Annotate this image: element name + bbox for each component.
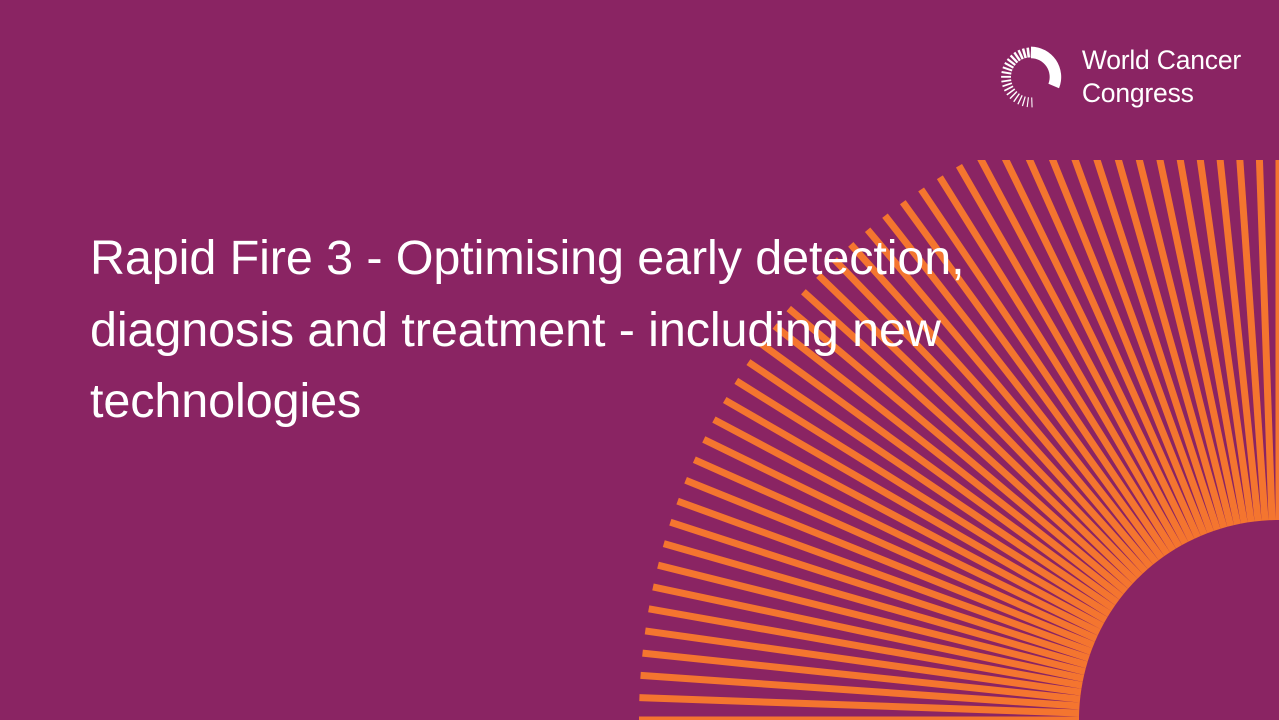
logo-solid-arc bbox=[1031, 47, 1061, 89]
fan-ray bbox=[1146, 160, 1237, 524]
fan-ray bbox=[1234, 160, 1265, 520]
fan-ray bbox=[1257, 160, 1272, 520]
fan-ray bbox=[649, 609, 1082, 685]
fan-ray bbox=[694, 460, 1096, 639]
fan-ray bbox=[643, 653, 1081, 699]
fan-ray bbox=[645, 631, 1081, 692]
fan-ray bbox=[714, 420, 1102, 627]
fan-ray bbox=[1103, 160, 1224, 528]
logo-dash bbox=[1022, 97, 1025, 106]
slide-title: Rapid Fire 3 - Optimising early detectio… bbox=[90, 223, 1120, 438]
fan-ray bbox=[686, 480, 1094, 645]
logo-dash bbox=[1002, 83, 1011, 86]
fan-ray bbox=[678, 501, 1091, 651]
world-cancer-congress-logo: World Cancer Congress bbox=[998, 44, 1241, 110]
logo-dash bbox=[1004, 86, 1013, 91]
logo-dash bbox=[1018, 95, 1022, 104]
logo-wordmark-line-2: Congress bbox=[1082, 77, 1241, 110]
logo-wordmark: World Cancer Congress bbox=[1082, 44, 1241, 110]
logo-dash bbox=[1001, 80, 1011, 82]
fan-ray bbox=[704, 439, 1099, 632]
fan-ray bbox=[664, 544, 1087, 665]
logo-dash bbox=[1028, 48, 1029, 58]
world-cancer-congress-radial-mark bbox=[998, 44, 1064, 110]
fan-ray bbox=[1190, 160, 1251, 522]
logo-dash bbox=[1027, 97, 1028, 107]
fan-ray bbox=[658, 565, 1085, 671]
logo-dash bbox=[1001, 72, 1011, 74]
logo-dash bbox=[1023, 49, 1026, 59]
logo-wordmark-line-1: World Cancer bbox=[1082, 44, 1241, 77]
fan-ray bbox=[639, 698, 1079, 713]
fan-ray bbox=[670, 522, 1088, 658]
fan-ray bbox=[641, 675, 1080, 706]
fan-ray bbox=[1212, 160, 1258, 521]
fan-ray bbox=[1124, 160, 1230, 526]
logo-dash bbox=[1003, 67, 1012, 70]
fan-ray bbox=[653, 587, 1083, 678]
fan-ray bbox=[1168, 160, 1244, 523]
slide-canvas: World Cancer Congress Rapid Fire 3 - Opt… bbox=[0, 0, 1279, 720]
